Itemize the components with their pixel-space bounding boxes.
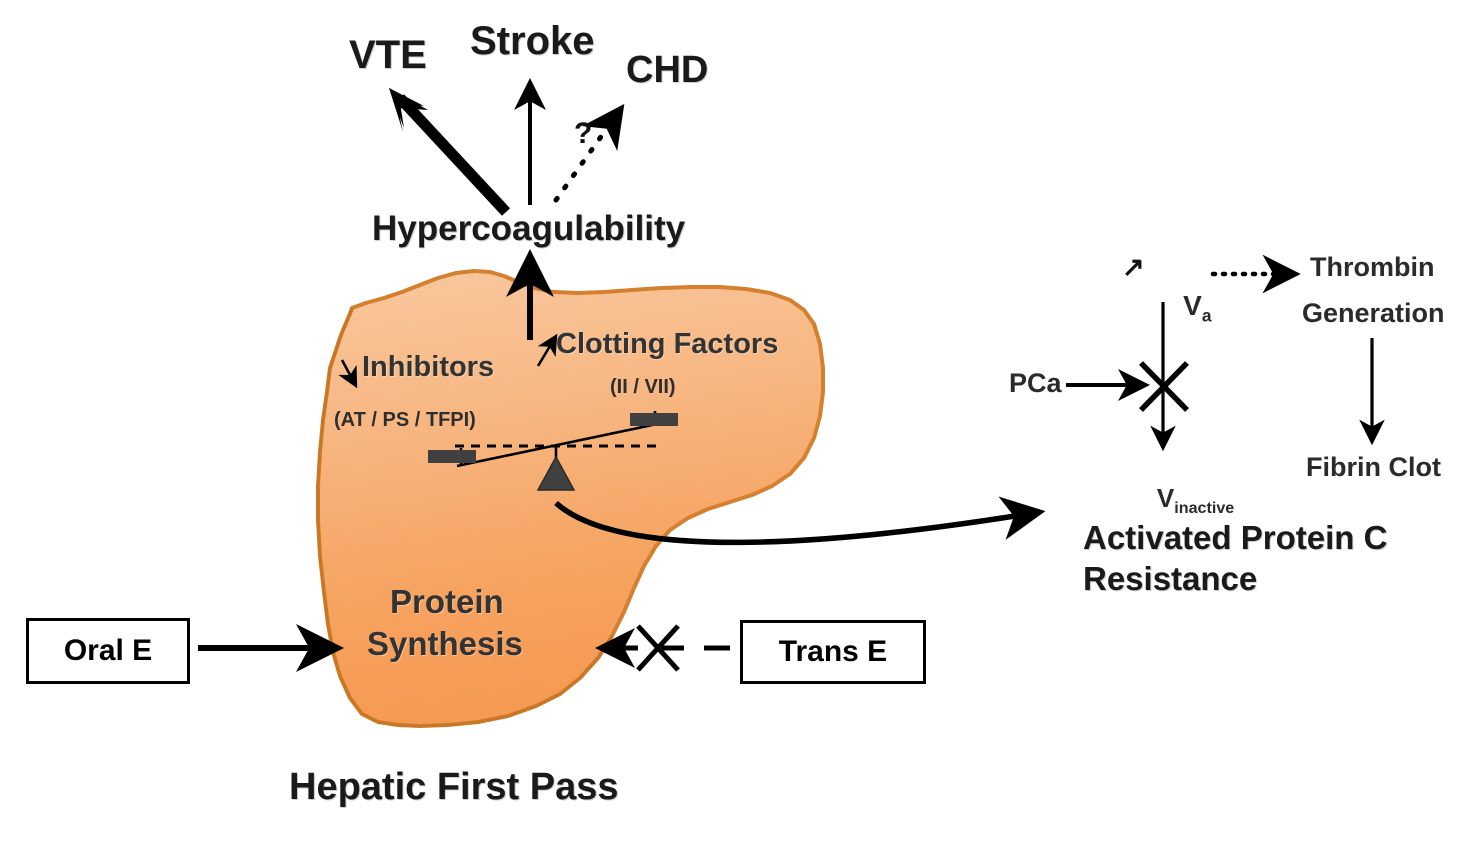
hypercoagulability-label: Hypercoagulability [372, 211, 685, 248]
apc-resistance-heading-line2: Resistance [1083, 562, 1257, 597]
protein-synthesis-label-line2: Synthesis [367, 627, 523, 662]
oral-estrogen-label: Oral E [64, 634, 152, 668]
inhibitors-detail-label: (AT / PS / TFPI) [334, 410, 476, 431]
v-inactive-subscript: inactive [1174, 499, 1234, 517]
transdermal-estrogen-box[interactable]: Trans E [740, 620, 926, 684]
thrombin-generation-label-line1: Thrombin [1310, 252, 1434, 283]
thrombin-generation-label-line2: Generation [1302, 298, 1445, 329]
transdermal-blocked-arrow [600, 626, 730, 670]
vte-arrow [389, 88, 506, 212]
diagram-vector-layer [0, 0, 1472, 841]
diagram-canvas: VTE Stroke CHD ? Hypercoagulability Clot… [0, 0, 1472, 841]
uncertainty-question-mark: ? [574, 117, 592, 151]
va-label: Va [1152, 258, 1211, 359]
clotting-factors-detail-label: (II / VII) [610, 377, 676, 398]
apc-resistance-heading-line1: Activated Protein C [1083, 521, 1387, 556]
clotting-factors-label: Clotting Factors [556, 329, 778, 359]
outcome-label-vte: VTE [349, 34, 427, 76]
transdermal-estrogen-label: Trans E [779, 635, 887, 669]
pca-label: PCa [1009, 368, 1062, 399]
outcome-label-chd: CHD [626, 51, 708, 91]
va-arrow-glyph-icon: ↗ [1122, 252, 1145, 283]
v-inactive-letter: V [1157, 483, 1174, 513]
diagram-title: Hepatic First Pass [289, 768, 618, 808]
outcome-label-stroke: Stroke [470, 20, 595, 62]
oral-estrogen-box[interactable]: Oral E [26, 618, 190, 684]
inhibitors-label: Inhibitors [362, 352, 494, 382]
fibrin-clot-label: Fibrin Clot [1306, 452, 1441, 483]
protein-synthesis-label-line1: Protein [390, 585, 504, 620]
va-subscript: a [1202, 306, 1212, 326]
va-letter: V [1183, 290, 1202, 321]
